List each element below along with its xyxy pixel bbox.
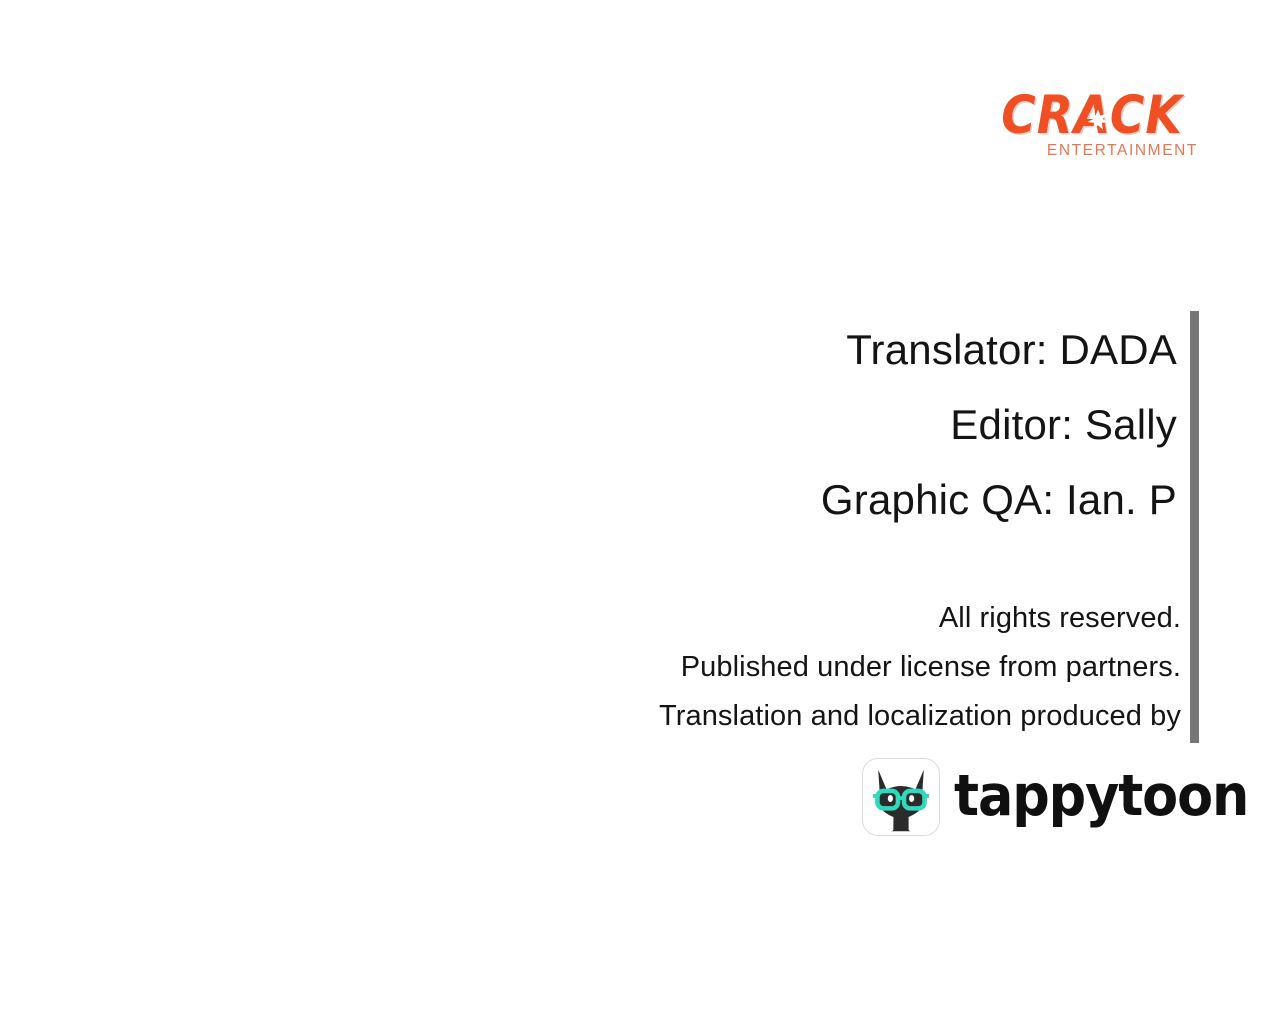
crack-wordmark: CRACK — [986, 88, 1198, 144]
legal-block: All rights reserved. Published under lic… — [440, 594, 1181, 741]
vertical-divider — [1190, 311, 1199, 743]
credit-line-editor: Editor: Sally — [560, 387, 1177, 462]
publisher-subtitle: ENTERTAINMENT — [986, 142, 1198, 160]
legal-line-license: Published under license from partners. — [440, 643, 1181, 692]
cat-with-glasses-icon — [862, 758, 940, 836]
credit-line-translator: Translator: DADA — [560, 312, 1177, 387]
comic-credits-page: CRACK ENTERTAINMENT Translator: DADA Edi… — [0, 0, 1280, 1030]
legal-line-rights: All rights reserved. — [440, 594, 1181, 643]
credits-block: Translator: DADA Editor: Sally Graphic Q… — [560, 312, 1177, 537]
legal-line-localization: Translation and localization produced by — [440, 692, 1181, 741]
tappytoon-wordmark: tappytoon — [954, 764, 1173, 828]
publisher-logo: CRACK ENTERTAINMENT — [986, 88, 1198, 160]
credit-line-graphic-qa: Graphic QA: Ian. P — [560, 462, 1177, 537]
tappytoon-brand-lockup: tappytoon — [862, 758, 1192, 838]
